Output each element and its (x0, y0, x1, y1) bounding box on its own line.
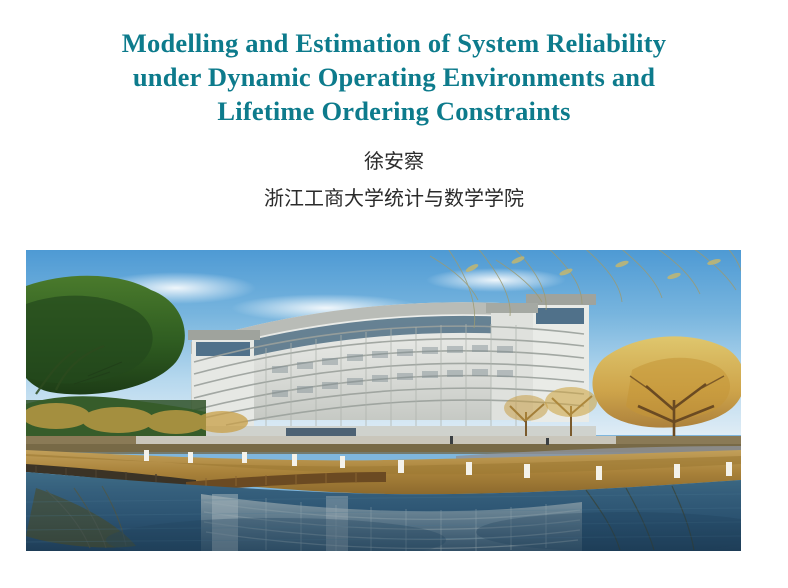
author-affiliation: 浙江工商大学统计与数学学院 (0, 182, 788, 214)
title-line-2: under Dynamic Operating Environments and (0, 60, 788, 94)
title-line-1: Modelling and Estimation of System Relia… (0, 26, 788, 60)
author-name: 徐安察 (0, 146, 788, 176)
campus-photo (26, 250, 741, 551)
author-block: 徐安察 浙江工商大学统计与数学学院 (0, 146, 788, 214)
campus-photo-artwork (26, 250, 741, 551)
page-title: Modelling and Estimation of System Relia… (0, 26, 788, 128)
title-line-3: Lifetime Ordering Constraints (0, 94, 788, 128)
slide-canvas: Modelling and Estimation of System Relia… (0, 0, 788, 588)
